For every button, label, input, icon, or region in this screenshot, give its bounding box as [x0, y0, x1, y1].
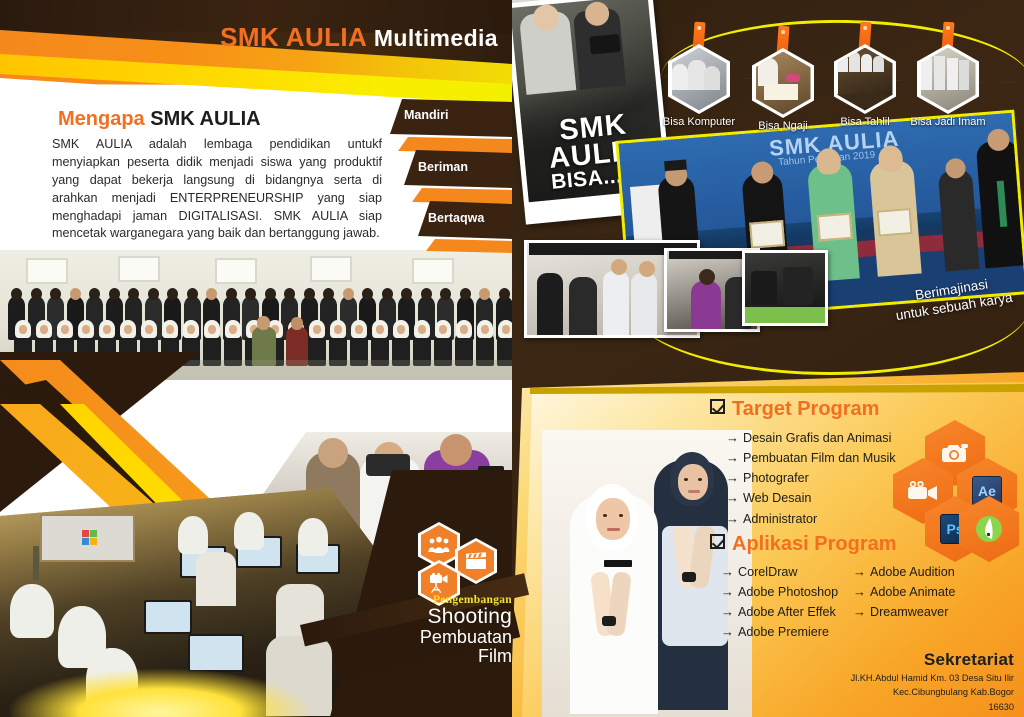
arrow-icon: →: [726, 511, 739, 526]
list-item-label: Adobe Photoshop: [738, 585, 838, 599]
list-item-label: Photografer: [743, 471, 809, 485]
intro-heading: Mengapa SMK AULIA: [58, 108, 261, 131]
value-label-mandiri: Mandiri: [404, 108, 448, 122]
badge-bisa-ngaji: Bisa Ngaji: [752, 48, 814, 118]
arrow-icon: →: [726, 430, 739, 445]
target-program-title: Target Program: [710, 398, 879, 421]
list-item: →Photografer: [726, 468, 896, 488]
app-icons-hex-cluster: Ae Ps: [893, 420, 1023, 560]
list-item: →Pembuatan Film dan Musik: [726, 448, 896, 468]
secretariat-address-line-2: Kec.Cibungbulang Kab.Bogor: [851, 686, 1014, 698]
list-item-label: Adobe Premiere: [738, 625, 829, 639]
intro-heading-orange: Mengapa: [58, 108, 145, 130]
arrow-icon: →: [721, 604, 734, 619]
development-line-3: Film: [352, 647, 512, 666]
list-item-label: Administrator: [743, 512, 817, 526]
development-labels: Pengembangan Shooting Pembuatan Film: [352, 594, 512, 666]
list-item: →Adobe Animate: [853, 582, 955, 602]
list-item-label: Desain Grafis dan Animasi: [743, 431, 891, 445]
arrow-icon: →: [853, 604, 866, 619]
arrow-icon: →: [853, 584, 866, 599]
intro-heading-dark: SMK AULIA: [150, 108, 260, 130]
target-program-title-text: Target Program: [732, 398, 879, 420]
value-divider-orange-3: [426, 239, 512, 253]
secretariat-address-line-3: 16630: [851, 701, 1014, 713]
secretariat-block: Sekretariat Jl.KH.Abdul Hamid Km. 03 Des…: [851, 650, 1014, 713]
list-item: →Administrator: [726, 509, 896, 529]
left-panel: SMK AULIA Multimedia Mengapa SMK AULIA S…: [0, 0, 512, 717]
aplikasi-program-title-text: Aplikasi Program: [732, 533, 897, 555]
clapperboard-icon: [455, 538, 497, 584]
value-label-bertaqwa: Bertaqwa: [428, 211, 484, 225]
list-item: →Adobe Audition: [853, 562, 955, 582]
list-item-label: Dreamweaver: [870, 605, 948, 619]
badge-label: Bisa Ngaji: [758, 120, 808, 132]
arrow-icon: →: [726, 470, 739, 485]
brand-title: SMK AULIA Multimedia: [220, 22, 498, 53]
list-item-label: Web Desain: [743, 491, 811, 505]
right-panel: SMK AULIA BISA...!!! Bisa Komputer: [512, 0, 1024, 717]
list-item-label: CorelDraw: [738, 565, 797, 579]
list-item-label: Pembuatan Film dan Musik: [743, 451, 896, 465]
arrow-icon: →: [726, 490, 739, 505]
arrow-icon: →: [726, 450, 739, 465]
secretariat-address-line-1: Jl.KH.Abdul Hamid Km. 03 Desa Situ Ilir: [851, 672, 1014, 684]
arrow-icon: →: [721, 624, 734, 639]
brand-name: SMK AULIA: [220, 22, 366, 52]
badge-label: Bisa Jadi Imam: [910, 116, 985, 128]
list-item: →CorelDraw: [721, 562, 838, 582]
target-program-list: →Desain Grafis dan Animasi →Pembuatan Fi…: [726, 428, 896, 529]
list-item-label: Adobe Audition: [870, 565, 955, 579]
arrow-icon: →: [721, 564, 734, 579]
value-divider-orange-1: [398, 137, 512, 153]
list-item-label: Adobe Animate: [870, 585, 955, 599]
list-item: →Desain Grafis dan Animasi: [726, 428, 896, 448]
badge-bisa-komputer: Bisa Komputer: [668, 44, 730, 114]
list-item: →Dreamweaver: [853, 602, 955, 622]
collage-photo-equipment: [742, 250, 828, 326]
list-item: →Adobe Photoshop: [721, 582, 838, 602]
list-item: →Web Desain: [726, 488, 896, 508]
aplikasi-program-list-left: →CorelDraw →Adobe Photoshop →Adobe After…: [721, 562, 838, 643]
arrow-icon: →: [721, 584, 734, 599]
intro-body-text: SMK AULIA adalah lembaga pendidikan untu…: [52, 136, 382, 243]
secretariat-title: Sekretariat: [851, 650, 1014, 670]
aplikasi-program-list-right: →Adobe Audition →Adobe Animate →Dreamwea…: [853, 562, 955, 622]
aplikasi-program-title: Aplikasi Program: [710, 533, 897, 556]
list-item-label: Adobe After Effek: [738, 605, 836, 619]
value-divider-orange-2: [412, 188, 512, 204]
brand-subtitle: Multimedia: [374, 25, 498, 51]
brochure-page: SMK AULIA Multimedia Mengapa SMK AULIA S…: [0, 0, 1024, 717]
badge-label: Bisa Komputer: [663, 116, 735, 128]
badge-bisa-jadi-imam: Bisa Jadi Imam: [917, 44, 979, 114]
list-item: →Adobe After Effek: [721, 602, 838, 622]
value-label-beriman: Beriman: [418, 160, 468, 174]
checkbox-icon: [710, 534, 725, 549]
badge-label: Bisa Tahlil: [840, 116, 889, 128]
development-line-1: Shooting: [352, 606, 512, 628]
arrow-icon: →: [853, 564, 866, 579]
development-line-2: Pembuatan: [352, 628, 512, 647]
checkbox-icon: [710, 399, 725, 414]
badge-bisa-tahlil: Bisa Tahlil: [834, 44, 896, 114]
list-item: →Adobe Premiere: [721, 622, 838, 642]
